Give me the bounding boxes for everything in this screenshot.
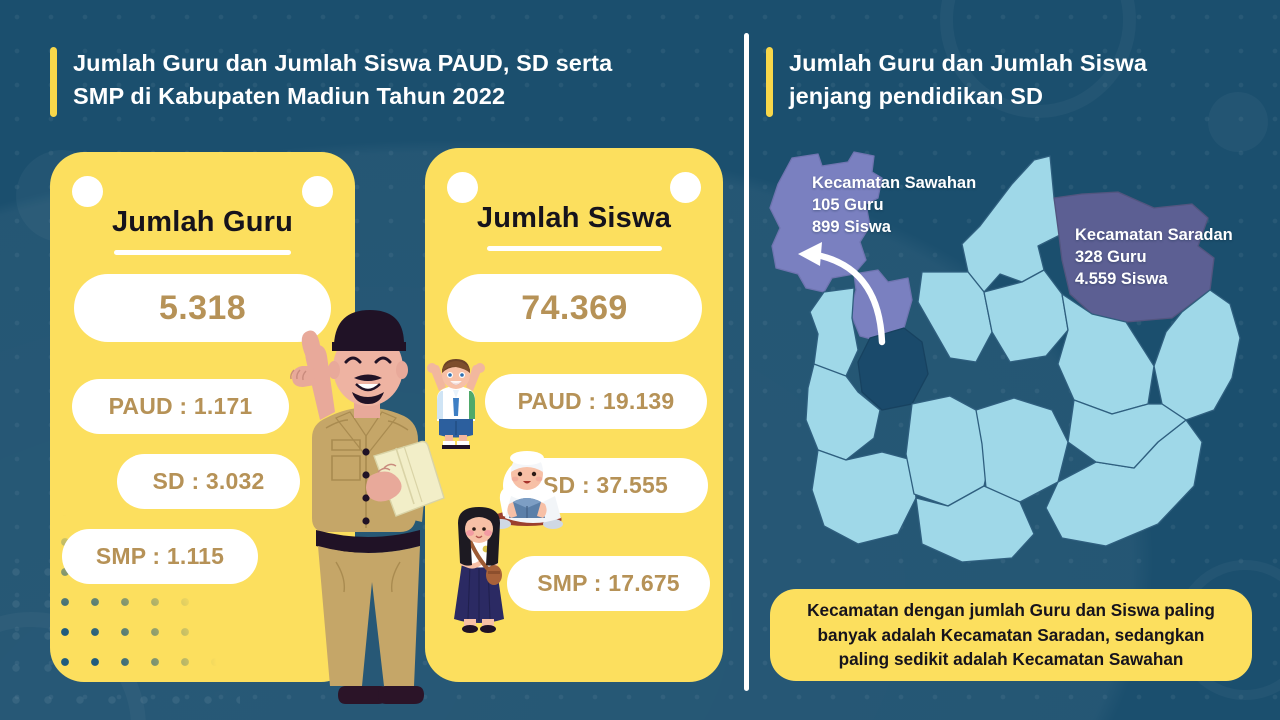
panel-divider [744, 33, 749, 691]
siswa-total-value: 74.369 [447, 274, 702, 342]
map-region-southwest [812, 450, 916, 544]
map-region-navy-inset [858, 328, 928, 410]
map-region-central-2 [984, 270, 1068, 362]
stat-card-siswa: Jumlah Siswa 74.369 PAUD : 19.139 SD : 3… [425, 148, 723, 682]
map-region-south-1 [976, 398, 1068, 502]
card-punch-hole-left [447, 172, 478, 203]
stat-card-guru: Jumlah Guru 5.318 PAUD : 1.171 SD : 3.03… [50, 152, 355, 682]
left-panel-title-text: Jumlah Guru dan Jumlah Siswa PAUD, SD se… [73, 47, 612, 114]
card-punch-hole-right [670, 172, 701, 203]
siswa-paud-value: PAUD : 19.139 [485, 374, 707, 429]
guru-paud-value: PAUD : 1.171 [72, 379, 289, 434]
siswa-smp-value: SMP : 17.675 [507, 556, 710, 611]
title-accent-bar [766, 47, 773, 117]
guru-smp-value: SMP : 1.115 [62, 529, 258, 584]
left-panel-title: Jumlah Guru dan Jumlah Siswa PAUD, SD se… [50, 47, 612, 117]
map-label-saradan: Kecamatan Saradan 328 Guru 4.559 Siswa [1075, 224, 1233, 290]
card-title-siswa: Jumlah Siswa [425, 202, 723, 235]
map-caption-text: Kecamatan dengan jumlah Guru dan Siswa p… [807, 598, 1215, 671]
infographic-canvas: Jumlah Guru dan Jumlah Siswa PAUD, SD se… [0, 0, 1280, 720]
siswa-sd-value: SD : 37.555 [503, 458, 708, 513]
card-title-guru: Jumlah Guru [50, 206, 355, 239]
title-accent-bar [50, 47, 57, 117]
map-label-sawahan: Kecamatan Sawahan 105 Guru 899 Siswa [812, 172, 976, 238]
right-panel-title: Jumlah Guru dan Jumlah Siswa jenjang pen… [766, 47, 1147, 117]
card-punch-hole-right [302, 176, 333, 207]
right-panel-title-text: Jumlah Guru dan Jumlah Siswa jenjang pen… [789, 47, 1147, 114]
card-title-underline [487, 246, 662, 251]
guru-sd-value: SD : 3.032 [117, 454, 300, 509]
card-punch-hole-left [72, 176, 103, 207]
map-region-north-central [962, 156, 1062, 292]
card-title-underline [114, 250, 291, 255]
map-caption-box: Kecamatan dengan jumlah Guru dan Siswa p… [770, 589, 1252, 681]
guru-total-value: 5.318 [74, 274, 331, 342]
